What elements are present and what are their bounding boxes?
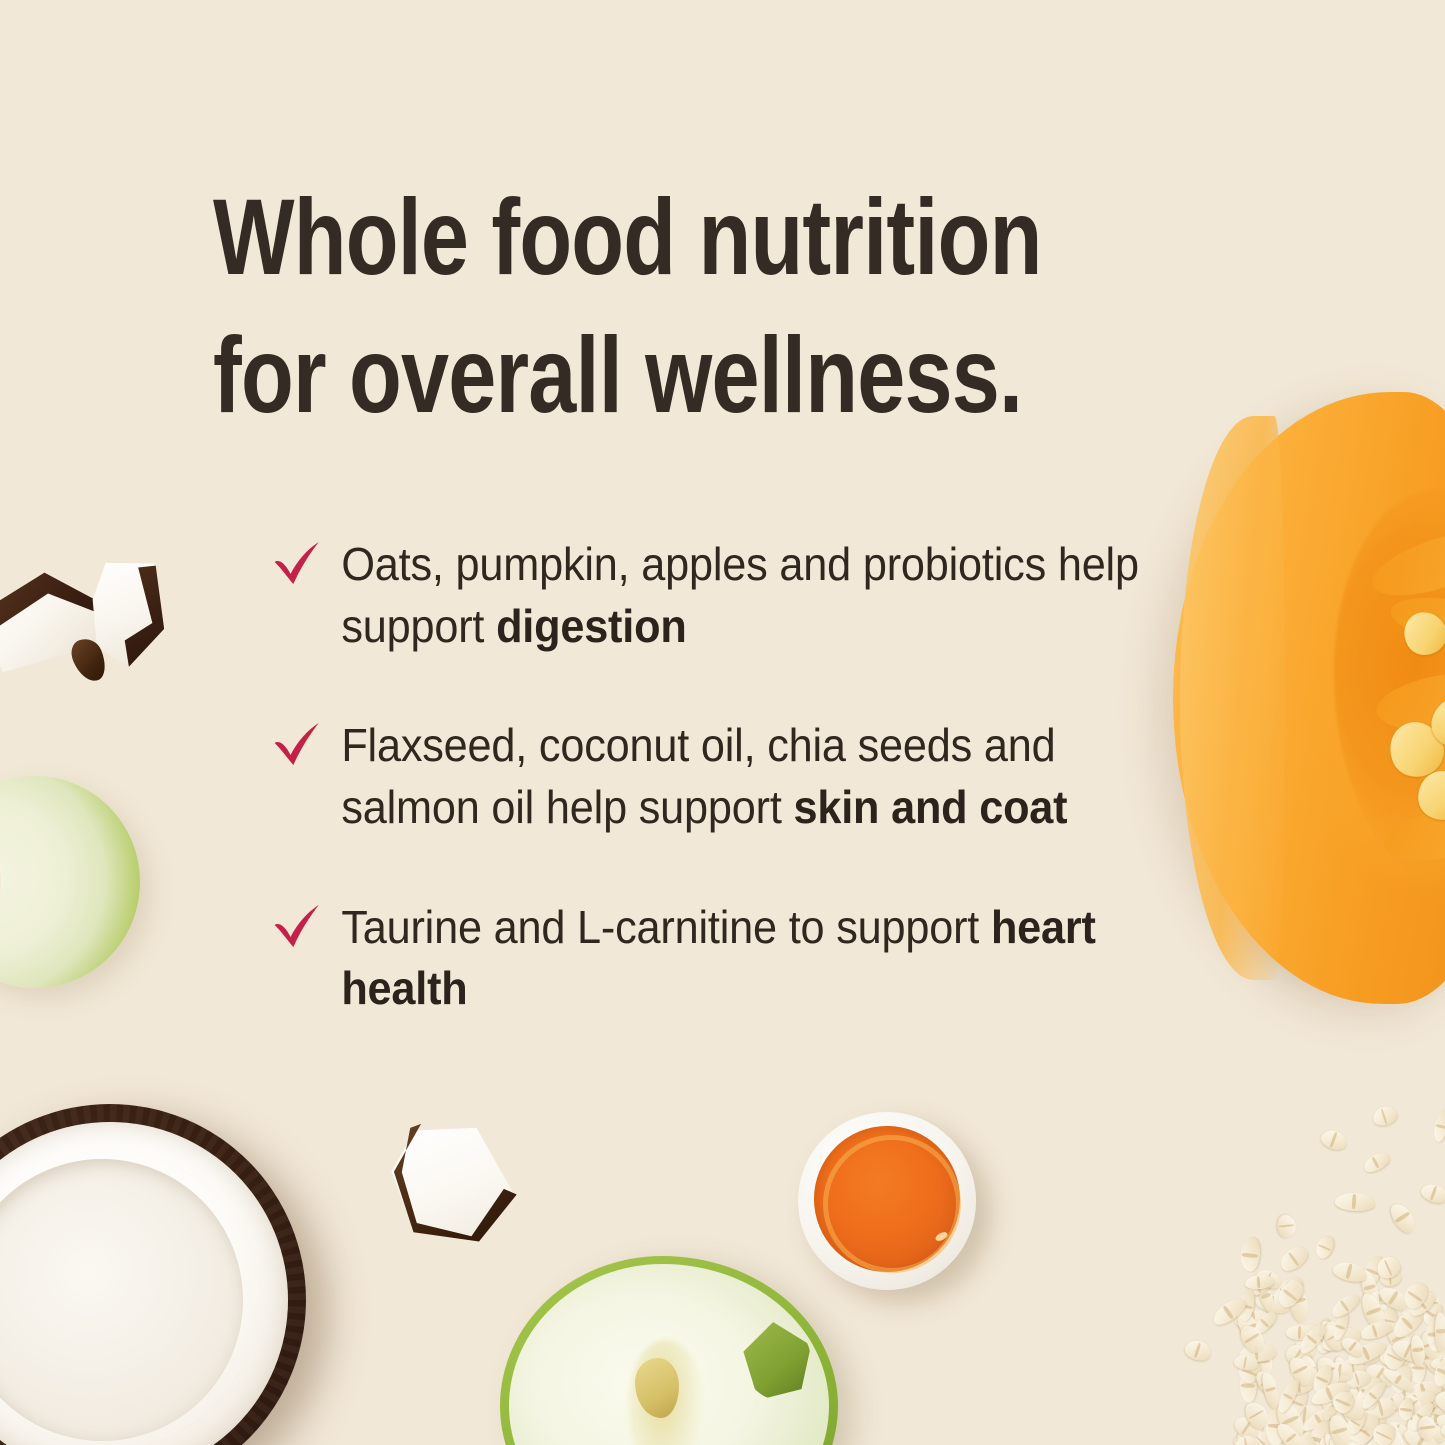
oat-flake xyxy=(1431,1108,1445,1143)
list-item: Flaxseed, coconut oil, chia seeds and sa… xyxy=(268,715,1142,838)
list-item-text: Taurine and L-carnitine to support xyxy=(341,901,991,953)
headline-line-1: Whole food nutrition xyxy=(213,168,1061,306)
pumpkin-half-photo xyxy=(1173,392,1445,1004)
benefit-list: Oats, pumpkin, apples and probiotics hel… xyxy=(268,534,1198,1020)
salmon-oil-bowl-photo xyxy=(798,1112,976,1290)
list-item: Oats, pumpkin, apples and probiotics hel… xyxy=(268,534,1142,657)
oat-flake xyxy=(1358,1319,1393,1342)
oat-flake xyxy=(1276,1242,1312,1276)
oat-flake xyxy=(1435,1312,1445,1352)
headline-line-2: for overall wellness. xyxy=(213,306,1061,444)
list-item: Taurine and L-carnitine to support heart… xyxy=(268,897,1142,1020)
green-apple-half-photo xyxy=(500,1256,838,1445)
check-icon xyxy=(272,538,323,588)
oat-flake xyxy=(1419,1181,1445,1206)
coconut-chunk-photo xyxy=(384,1120,524,1247)
oat-flake xyxy=(1334,1192,1375,1212)
check-icon xyxy=(272,719,323,769)
oat-flake xyxy=(1276,1214,1296,1238)
check-icon xyxy=(272,901,323,951)
list-item-emphasis: skin and coat xyxy=(793,781,1067,833)
rolled-oats-photo xyxy=(1125,1089,1445,1445)
oat-flake xyxy=(1183,1337,1214,1363)
oat-flake xyxy=(1371,1104,1399,1129)
list-item-text: Oats, pumpkin, apples and probiotics hel… xyxy=(341,538,1139,652)
oat-flake xyxy=(1361,1150,1392,1175)
whole-food-nutrition-poster: Whole food nutrition for overall wellnes… xyxy=(0,0,1445,1445)
list-item-emphasis: digestion xyxy=(496,600,686,652)
apple-wedge-body xyxy=(0,776,140,988)
coconut-half-photo xyxy=(0,1104,306,1445)
oat-flake xyxy=(1239,1237,1261,1273)
oat-flake xyxy=(1313,1233,1337,1261)
page-title: Whole food nutrition for overall wellnes… xyxy=(213,168,1061,444)
oil-surface xyxy=(814,1126,960,1272)
oat-flake xyxy=(1387,1200,1420,1237)
coconut-chunk-flesh xyxy=(384,1120,524,1247)
green-apple-wedge-photo xyxy=(0,776,140,988)
oat-flake xyxy=(1319,1127,1350,1153)
